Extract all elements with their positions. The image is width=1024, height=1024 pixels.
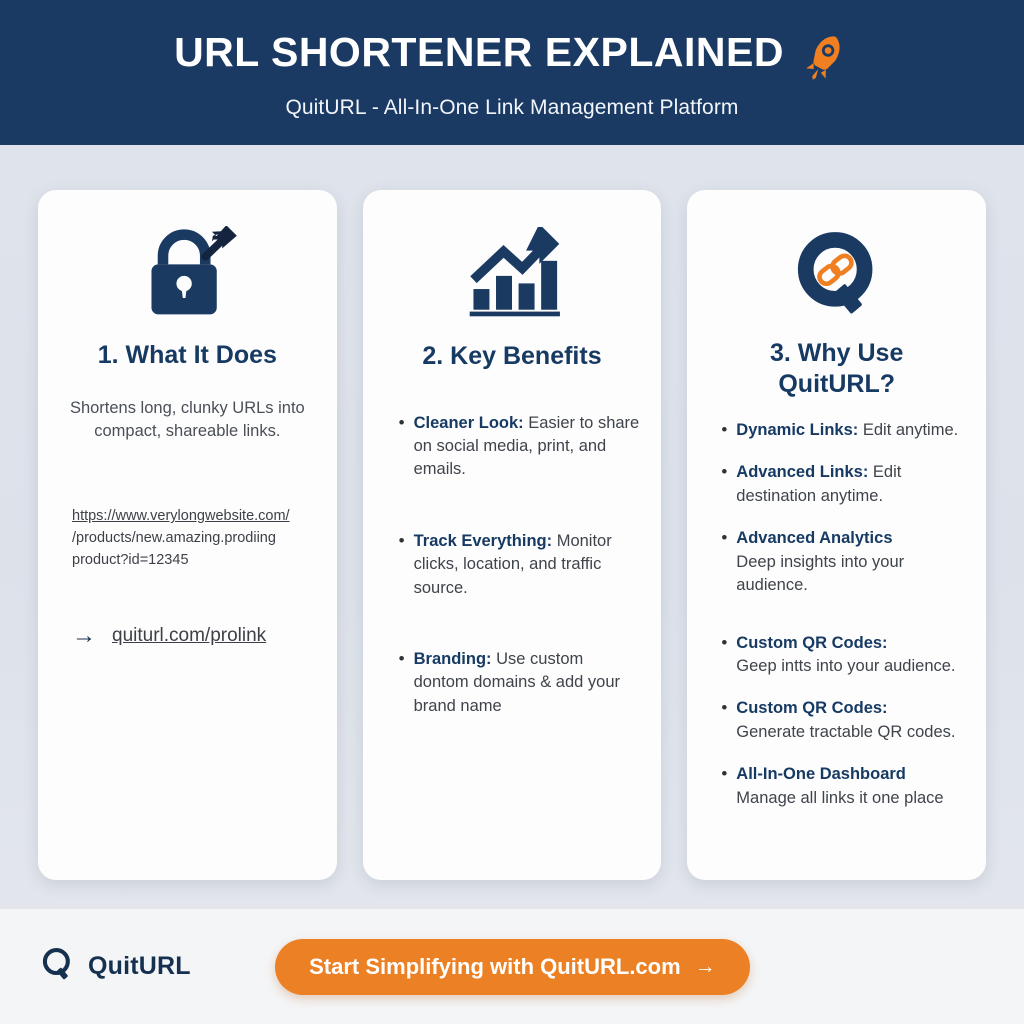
- infographic-page: URL SHORTENER EXPLAINED QuitURL - All-In…: [0, 0, 1024, 1024]
- list-item-lead: Advanced Links:: [736, 463, 868, 481]
- card-why-use-quiturl: 3. Why Use QuitURL? • Dynamic Links: Edi…: [687, 190, 986, 880]
- rocket-icon: [798, 28, 850, 80]
- card-description: Shortens long, clunky URLs into compact,…: [60, 397, 315, 445]
- list-item-lead: Custom QR Codes:: [736, 699, 887, 717]
- list-item-text: Track Everything: Monitor clicks, locati…: [414, 530, 640, 600]
- list-item: • Cleaner Look: Easier to share on socia…: [399, 412, 640, 482]
- quiturl-q-link-logo-icon: [791, 224, 883, 324]
- list-item-text: Custom QR Codes: Generate tractable QR c…: [736, 697, 964, 744]
- arrow-right-icon: →: [72, 624, 96, 648]
- card-key-benefits: 2. Key Benefits • Cleaner Look: Easier t…: [363, 190, 662, 880]
- bullet-dot-icon: •: [399, 648, 405, 671]
- list-item-body: Generate tractable QR codes.: [736, 723, 955, 741]
- list-item: • Custom QR Codes: Geep intts into your …: [721, 632, 964, 679]
- list-item: • Branding: Use custom dontom domains & …: [399, 648, 640, 718]
- quiturl-q-logo-icon: [40, 946, 76, 987]
- list-item: • Advanced Analytics Deep insights into …: [721, 527, 964, 597]
- header-banner: URL SHORTENER EXPLAINED QuitURL - All-In…: [0, 0, 1024, 145]
- bullet-dot-icon: •: [721, 697, 727, 720]
- cta-label: Start Simplifying with QuitURL.com: [309, 954, 681, 980]
- list-item-lead: Custom QR Codes:: [736, 634, 887, 652]
- url-demo-block: https://www.verylongwebsite.com/ /produc…: [60, 506, 315, 647]
- list-item-lead: All-In-One Dashboard: [736, 765, 906, 783]
- short-url-link[interactable]: quiturl.com/prolink: [112, 625, 266, 647]
- bullet-dot-icon: •: [399, 530, 405, 553]
- list-item-body: Geep intts into your audience.: [736, 657, 955, 675]
- long-url-line-3: product?id=12345: [72, 552, 189, 568]
- growth-bar-chart-icon: [460, 224, 564, 324]
- card-what-it-does: 1. What It Does Shortens long, clunky UR…: [38, 190, 337, 880]
- list-item-text: Branding: Use custom dontom domains & ad…: [414, 648, 640, 718]
- bullet-dot-icon: •: [721, 461, 727, 484]
- cards-row: 1. What It Does Shortens long, clunky UR…: [0, 145, 1024, 908]
- card-title: 3. Why Use QuitURL?: [709, 338, 964, 399]
- list-item-text: Cleaner Look: Easier to share on social …: [414, 412, 640, 482]
- list-item-text: Advanced Links: Edit destination anytime…: [736, 461, 964, 508]
- list-item: • Dynamic Links: Edit anytime.: [721, 419, 964, 442]
- list-item: • Track Everything: Monitor clicks, loca…: [399, 530, 640, 600]
- benefits-list: • Cleaner Look: Easier to share on socia…: [385, 412, 640, 719]
- list-item-lead: Advanced Analytics: [736, 529, 892, 547]
- list-item-lead: Track Everything:: [414, 532, 552, 550]
- list-item: • Custom QR Codes: Generate tractable QR…: [721, 697, 964, 744]
- long-url-line-1: https://www.verylongwebsite.com/: [72, 508, 290, 524]
- list-item-text: All-In-One Dashboard Manage all links it…: [736, 763, 964, 810]
- padlock-with-arrow-icon: [134, 224, 240, 324]
- short-url-row: → quiturl.com/prolink: [72, 624, 315, 648]
- arrow-right-icon: →: [695, 956, 716, 977]
- list-item-text: Advanced Analytics Deep insights into yo…: [736, 527, 964, 597]
- card-title: 2. Key Benefits: [422, 341, 601, 372]
- bullet-dot-icon: •: [721, 632, 727, 655]
- bullet-dot-icon: •: [399, 412, 405, 435]
- brand-name: QuitURL: [88, 952, 191, 981]
- long-url-display: https://www.verylongwebsite.com/ /produc…: [72, 506, 315, 571]
- card-title: 1. What It Does: [98, 340, 277, 371]
- list-item-lead: Branding:: [414, 650, 492, 668]
- list-item-text: Dynamic Links: Edit anytime.: [736, 419, 964, 442]
- start-simplifying-button[interactable]: Start Simplifying with QuitURL.com →: [275, 939, 750, 995]
- page-subtitle: QuitURL - All-In-One Link Management Pla…: [285, 96, 738, 120]
- bullet-dot-icon: •: [721, 763, 727, 786]
- list-item-body: Deep insights into your audience.: [736, 553, 904, 594]
- bullet-dot-icon: •: [721, 527, 727, 550]
- long-url-line-2: /products/new.amazing.prodiing: [72, 530, 276, 546]
- page-title: URL SHORTENER EXPLAINED: [174, 32, 784, 73]
- list-item: • All-In-One Dashboard Manage all links …: [721, 763, 964, 810]
- brand-lockup: QuitURL: [40, 946, 191, 987]
- list-item: • Advanced Links: Edit destination anyti…: [721, 461, 964, 508]
- footer-bar: QuitURL Start Simplifying with QuitURL.c…: [0, 908, 1024, 1024]
- list-item-lead: Dynamic Links:: [736, 421, 858, 439]
- header-title-row: URL SHORTENER EXPLAINED: [174, 26, 850, 80]
- list-item-lead: Cleaner Look:: [414, 414, 524, 432]
- list-item-body: Edit anytime.: [858, 421, 958, 439]
- bullet-dot-icon: •: [721, 419, 727, 442]
- list-item-body: Manage all links it one place: [736, 789, 943, 807]
- list-item-text: Custom QR Codes: Geep intts into your au…: [736, 632, 964, 679]
- cta-container: Start Simplifying with QuitURL.com →: [191, 939, 984, 995]
- why-use-list: • Dynamic Links: Edit anytime. • Advance…: [709, 419, 964, 810]
